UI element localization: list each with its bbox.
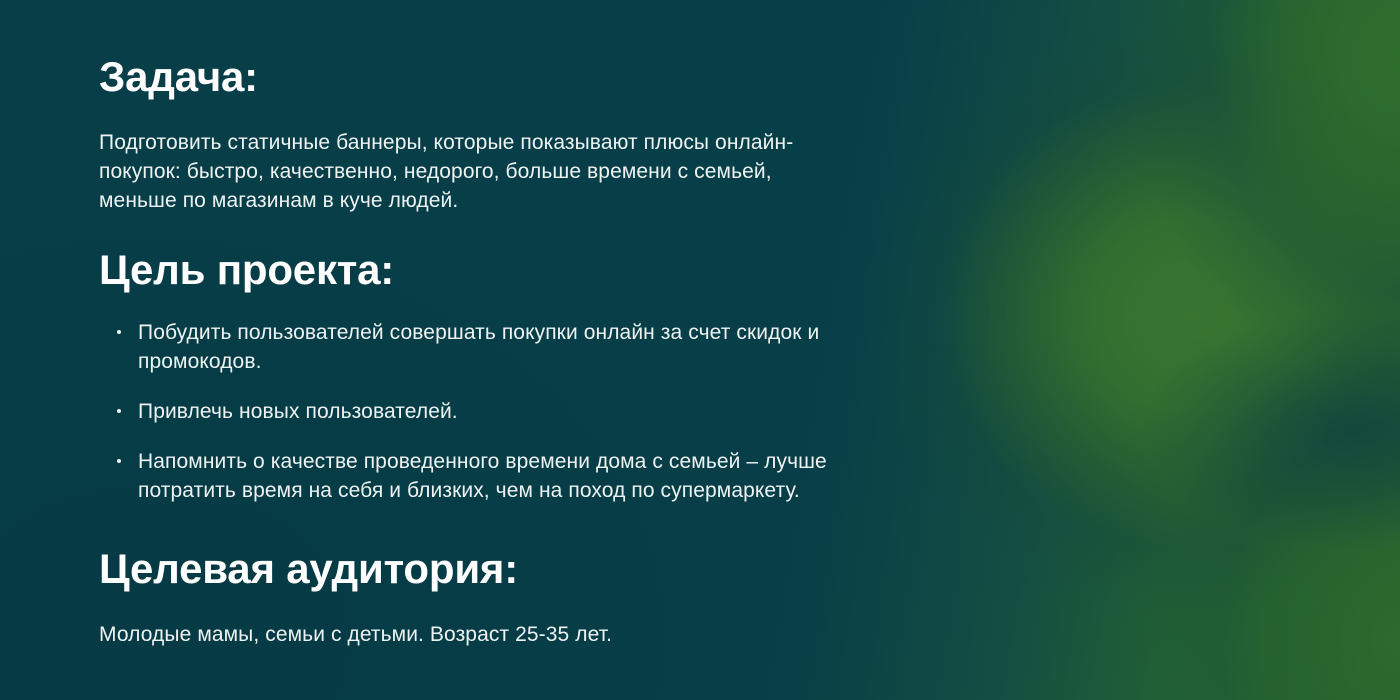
task-paragraph: Подготовить статичные баннеры, которые п… [99,128,819,215]
list-item: Побудить пользователей совершать покупки… [99,318,879,376]
bullet-dot-icon [117,330,121,334]
goal-heading: Цель проекта: [99,249,394,291]
task-heading: Задача: [99,56,258,98]
list-item: Привлечь новых пользователей. [99,397,879,426]
list-item-label: Привлечь новых пользователей. [138,400,458,423]
bullet-dot-icon [117,459,121,463]
list-item-label: Побудить пользователей совершать покупки… [138,321,819,373]
slide-content: Задача: Подготовить статичные баннеры, к… [99,0,919,700]
audience-heading: Целевая аудитория: [99,548,518,590]
list-item-label: Напомнить о качестве проведенного времен… [138,450,827,502]
presentation-slide: Задача: Подготовить статичные баннеры, к… [0,0,1400,700]
list-item: Напомнить о качестве проведенного времен… [99,447,879,505]
audience-paragraph: Молодые мамы, семьи с детьми. Возраст 25… [99,620,859,649]
bullet-dot-icon [117,409,121,413]
goal-bullet-list: Побудить пользователей совершать покупки… [99,318,879,505]
